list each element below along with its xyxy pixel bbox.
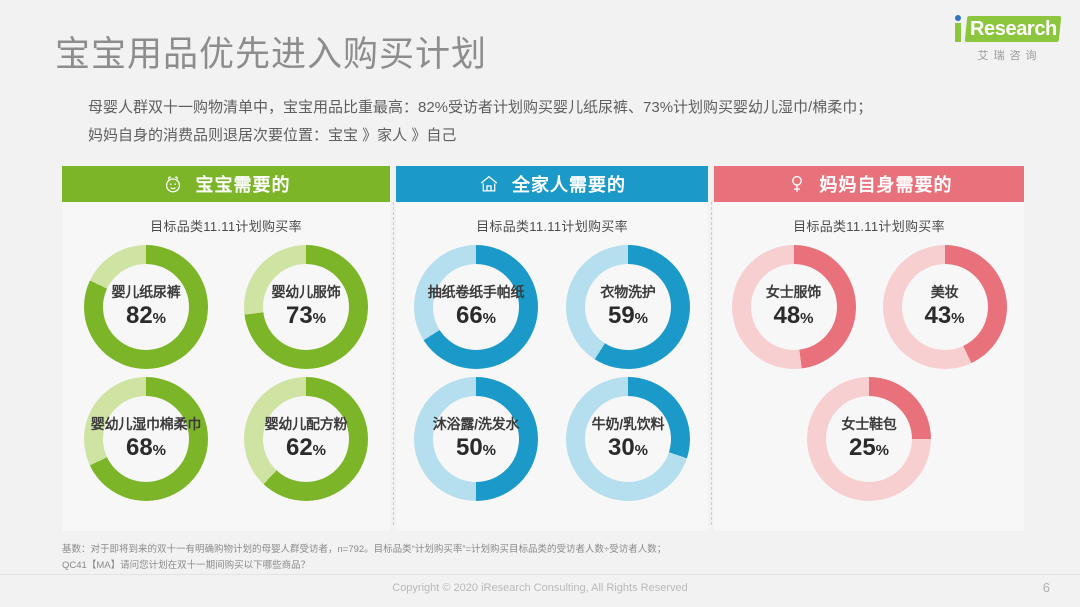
- page-title: 宝宝用品优先进入购买计划: [55, 26, 487, 77]
- home-icon: [478, 173, 500, 195]
- donut-cell: 婴幼儿湿巾棉柔巾68%: [66, 377, 226, 501]
- intro-line-2: 妈妈自身的消费品则退居次要位置：宝宝 》家人 》自己: [88, 122, 1008, 150]
- panel-baby: 宝宝需要的 目标品类11.11计划购买率 婴儿纸尿裤82%婴幼儿服饰73%婴幼儿…: [62, 166, 390, 531]
- donut-chart: 沐浴露/洗发水50%: [414, 377, 538, 501]
- donut-chart: 婴幼儿湿巾棉柔巾68%: [84, 377, 208, 501]
- donut-chart: 抽纸卷纸手帕纸66%: [414, 245, 538, 369]
- baby-face-icon: [162, 173, 184, 195]
- footnote-line-1: 基数：对于即将到来的双十一有明确购物计划的母婴人群受访者，n=792。目标品类“…: [62, 542, 1022, 558]
- donut-grid-baby: 婴儿纸尿裤82%婴幼儿服饰73%婴幼儿湿巾棉柔巾68%婴幼儿配方粉62%: [62, 245, 390, 509]
- donut-chart: 衣物洗护59%: [566, 245, 690, 369]
- donut-label: 婴幼儿配方粉: [265, 414, 348, 434]
- donut-label: 抽纸卷纸手帕纸: [428, 282, 525, 302]
- panel-header-label-mom: 妈妈自身需要的: [820, 171, 953, 197]
- donut-center: 婴儿纸尿裤82%: [103, 264, 189, 350]
- donut-value: 25%: [849, 435, 889, 464]
- donut-grid-mom: 女士服饰48%美妆43%女士鞋包25%: [714, 245, 1024, 509]
- logo-chinese-name: 艾瑞咨询: [952, 47, 1062, 63]
- footnote: 基数：对于即将到来的双十一有明确购物计划的母婴人群受访者，n=792。目标品类“…: [62, 542, 1022, 574]
- panel-header-baby: 宝宝需要的: [62, 166, 390, 202]
- donut-cell: 婴幼儿配方粉62%: [226, 377, 386, 501]
- panels-container: 宝宝需要的 目标品类11.11计划购买率 婴儿纸尿裤82%婴幼儿服饰73%婴幼儿…: [62, 166, 1024, 531]
- donut-center: 婴幼儿湿巾棉柔巾68%: [103, 396, 189, 482]
- donut-value: 82%: [126, 303, 166, 332]
- donut-chart: 婴幼儿配方粉62%: [244, 377, 368, 501]
- donut-cell: 女士鞋包25%: [794, 377, 945, 501]
- logo-wordmark: Research: [970, 17, 1057, 41]
- donut-cell: 沐浴露/洗发水50%: [400, 377, 552, 501]
- copyright-text: Copyright © 2020 iResearch Consulting, A…: [0, 582, 1080, 594]
- panel-subtitle-mom: 目标品类11.11计划购买率: [714, 216, 1024, 235]
- donut-cell: 女士服饰48%: [718, 245, 869, 369]
- donut-label: 婴儿纸尿裤: [112, 282, 181, 302]
- donut-label: 沐浴露/洗发水: [433, 414, 520, 434]
- donut-center: 女士鞋包25%: [826, 396, 912, 482]
- donut-center: 牛奶/乳饮料30%: [585, 396, 671, 482]
- donut-center: 沐浴露/洗发水50%: [433, 396, 519, 482]
- donut-label: 婴幼儿湿巾棉柔巾: [91, 414, 201, 434]
- donut-label: 婴幼儿服饰: [272, 282, 341, 302]
- donut-chart: 牛奶/乳饮料30%: [566, 377, 690, 501]
- panel-mom: 妈妈自身需要的 目标品类11.11计划购买率 女士服饰48%美妆43%女士鞋包2…: [714, 166, 1024, 531]
- donut-chart: 女士鞋包25%: [807, 377, 931, 501]
- donut-center: 美妆43%: [902, 264, 988, 350]
- donut-chart: 美妆43%: [883, 245, 1007, 369]
- donut-value: 62%: [286, 435, 326, 464]
- donut-value: 43%: [924, 303, 964, 332]
- panel-divider-1: [393, 202, 394, 525]
- panel-header-label-baby: 宝宝需要的: [196, 171, 291, 197]
- intro-paragraph: 母婴人群双十一购物清单中，宝宝用品比重最高：82%受访者计划购买婴儿纸尿裤、73…: [88, 94, 1008, 150]
- donut-value: 73%: [286, 303, 326, 332]
- donut-value: 68%: [126, 435, 166, 464]
- donut-label: 女士服饰: [766, 282, 821, 302]
- donut-center: 婴幼儿服饰73%: [263, 264, 349, 350]
- donut-value: 30%: [608, 435, 648, 464]
- donut-cell: 婴儿纸尿裤82%: [66, 245, 226, 369]
- donut-label: 牛奶/乳饮料: [592, 414, 665, 434]
- panel-subtitle-baby: 目标品类11.11计划购买率: [62, 216, 390, 235]
- donut-cell: 美妆43%: [869, 245, 1020, 369]
- logo-i-dot-icon: [955, 15, 961, 21]
- donut-value: 66%: [456, 303, 496, 332]
- donut-value: 50%: [456, 435, 496, 464]
- panel-header-mom: 妈妈自身需要的: [714, 166, 1024, 202]
- donut-label: 衣物洗护: [600, 282, 655, 302]
- donut-chart: 女士服饰48%: [732, 245, 856, 369]
- donut-cell: 抽纸卷纸手帕纸66%: [400, 245, 552, 369]
- panel-family: 全家人需要的 目标品类11.11计划购买率 抽纸卷纸手帕纸66%衣物洗护59%沐…: [396, 166, 708, 531]
- panel-header-label-family: 全家人需要的: [512, 171, 626, 197]
- female-symbol-icon: [786, 173, 808, 195]
- donut-label: 美妆: [931, 282, 959, 302]
- logo-mark: Research: [952, 14, 1060, 44]
- donut-center: 女士服饰48%: [751, 264, 837, 350]
- donut-value: 48%: [773, 303, 813, 332]
- panel-subtitle-family: 目标品类11.11计划购买率: [396, 216, 708, 235]
- donut-chart: 婴幼儿服饰73%: [244, 245, 368, 369]
- page-number: 6: [1043, 580, 1050, 595]
- panel-divider-2: [711, 202, 712, 525]
- donut-label: 女士鞋包: [841, 414, 896, 434]
- donut-cell: 衣物洗护59%: [552, 245, 704, 369]
- footnote-line-2: QC41【MA】请问您计划在双十一期间购买以下哪些商品？: [62, 558, 1022, 574]
- donut-center: 衣物洗护59%: [585, 264, 671, 350]
- donut-center: 婴幼儿配方粉62%: [263, 396, 349, 482]
- donut-cell: 婴幼儿服饰73%: [226, 245, 386, 369]
- logo-i-stem: [955, 23, 961, 42]
- donut-value: 59%: [608, 303, 648, 332]
- panel-header-family: 全家人需要的: [396, 166, 708, 202]
- intro-line-1: 母婴人群双十一购物清单中，宝宝用品比重最高：82%受访者计划购买婴儿纸尿裤、73…: [88, 94, 1008, 122]
- donut-center: 抽纸卷纸手帕纸66%: [433, 264, 519, 350]
- donut-chart: 婴儿纸尿裤82%: [84, 245, 208, 369]
- iresearch-logo: Research 艾瑞咨询: [952, 14, 1062, 63]
- donut-cell: 牛奶/乳饮料30%: [552, 377, 704, 501]
- footer-divider: [0, 574, 1080, 575]
- donut-grid-family: 抽纸卷纸手帕纸66%衣物洗护59%沐浴露/洗发水50%牛奶/乳饮料30%: [396, 245, 708, 509]
